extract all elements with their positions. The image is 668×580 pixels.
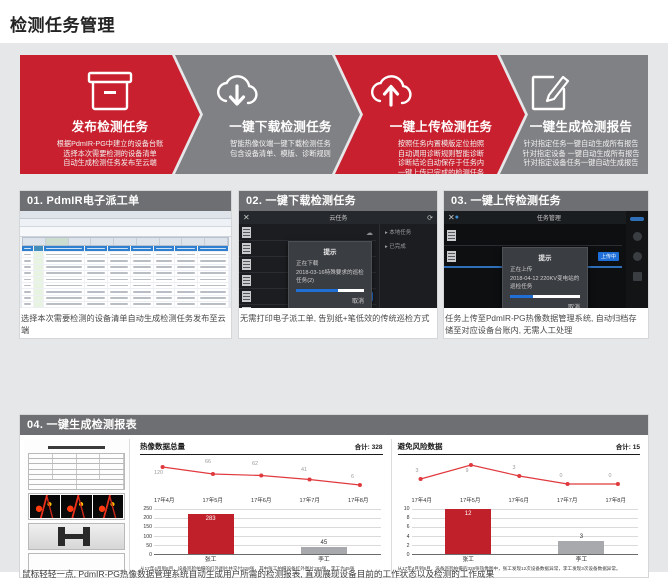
line-chart-svg-right [398,457,641,497]
card-03-screenshot: ✕ ● 任务管理 + 上传中 提示 正在上传 [444,211,648,308]
download-icon[interactable]: ☁ [366,229,373,237]
mobile-topbar-title: 任务管理 [459,213,639,222]
window-titlebar [20,211,231,219]
chevron-step-1-desc-line-2: 选择本次需要检测的设备清单 [26,149,194,159]
bar-chart-left-ylabels: 0 50 100 150 200 250 [140,509,153,555]
status-badge: 上传中 [598,252,619,261]
card-02-header: 02. 一键下载检测任务 [239,191,437,211]
info-icon[interactable] [633,232,642,241]
cloud-icon[interactable] [633,252,642,261]
bar-ligong[interactable]: 45 [301,547,347,554]
data-label-left-4: 6 [351,474,354,480]
xlabel-left-1: 17年5月 [189,496,238,504]
card-04-caption-wrap: 鼠标轻轻一点, PdmIR-PG热像数据管理系统自动生成用户所需的检测报表, 直… [20,562,660,580]
dialog-status-line: 正在下载 [289,259,371,267]
line-chart-left-xlabels: 17年4月 17年5月 17年6月 17年7月 17年8月 [140,496,383,504]
bar-chart-left-plot: 283 45 [154,509,381,555]
bar-chart-right-ylabels: 0 2 4 6 8 10 [398,509,411,555]
page-title: 检测任务管理 [0,0,668,36]
chevron-step-2[interactable]: 一键下载检测任务 智能热像仪端一键下载检测任务 包含设备清单、模版、诊断规则 [175,55,360,174]
card-01-header: 01. PdmIR电子派工单 [20,191,231,211]
chevron-step-1-desc-line-3: 自动生成检测任务发布至云端 [26,158,194,168]
ytick-left-0: 0 [149,552,152,558]
chevron-step-3-title: 一键上传检测任务 [357,116,525,135]
report-thermal-images [28,493,125,520]
card-03-caption: 任务上传至PdmIR-PG热像数据管理系统, 自动归档存储至对应设备台账内, 无… [444,308,648,336]
card-04-body: 热像数据总量 合计: 328 120 66 62 41 [20,435,648,577]
chevron-step-3-desc-line-2: 自动调用诊断规则智能诊断 [363,149,519,159]
chart-pane-thermal-total: 热像数据总量 合计: 328 120 66 62 41 [134,439,387,573]
chart-pane-risk-avoided: 避免风险数据 合计: 15 3 9 3 0 [391,439,645,573]
data-label-right-3: 0 [560,473,563,479]
report-info-table [28,453,125,490]
close-icon[interactable]: ✕ [448,213,455,222]
xlabel-right-3: 17年7月 [543,496,592,504]
bar-value-right-0: 12 [445,511,491,517]
chevron-step-4-title: 一键生成检测报告 [514,116,648,135]
chevron-step-3-desc-line-3: 诊断结论自动保存于任务内 [363,158,519,168]
chevron-step-3-desc: 按照任务内置模版定位拍照 自动调用诊断规则智能诊断 诊断结论自动保存于任务内 一… [357,139,525,177]
ytick-right-2: 4 [407,534,410,540]
process-chevron-band: 发布检测任务 根据PdmIR-PG中建立的设备台账 选择本次需要检测的设备清单 … [20,55,648,174]
dialog-status-line: 正在上传 [503,265,587,273]
data-label-right-2: 3 [513,465,516,471]
document-icon [242,275,251,286]
bar-zhanggong[interactable]: 283 [188,514,234,554]
side-panel-row-2: ▸ 已完成 [380,236,437,250]
cloud-upload-icon [365,69,417,113]
mobile-cloud-task-download-app: ✕ 云任务 ⟳ ☁ 下载中 ☁ ▸ 本地任务 ▸ 已完成 提示 [239,211,437,308]
ytick-left-2: 100 [143,534,152,540]
document-icon [242,259,251,270]
refresh-icon[interactable]: ⟳ [427,214,433,222]
list-item[interactable] [444,225,622,246]
card-01[interactable]: 01. PdmIR电子派工单 [20,191,231,338]
mobile-right-toolbar [626,211,648,308]
bar-zhanggong[interactable]: 12 [445,509,491,554]
chevron-step-2-title: 一键下载检测任务 [201,116,360,135]
data-label-right-0: 3 [416,468,419,474]
dialog-task-name: 2018-03-16特殊要求的巡检任务(2) [289,267,371,284]
xlabel-right-4: 17年8月 [592,496,641,504]
chart-header-left: 热像数据总量 合计: 328 [140,441,383,455]
chart-header-right: 避免风险数据 合计: 15 [398,441,641,455]
cancel-button[interactable]: 取消 [503,298,587,308]
ytick-left-4: 200 [143,515,152,521]
dialog-title: 提示 [289,242,371,259]
mobile-task-upload-app: ✕ ● 任务管理 + 上传中 提示 正在上传 [444,211,648,308]
mobile-topbar-title: 云任务 [329,213,347,222]
report-preview-thumbnail[interactable] [24,439,130,573]
line-chart-risk-avoided: 3 9 3 0 0 [398,457,641,497]
ytick-right-4: 8 [407,515,410,521]
task-grid [20,237,231,308]
chevron-step-1-desc: 根据PdmIR-PG中建立的设备台账 选择本次需要检测的设备清单 自动生成检测任… [20,139,200,168]
xlabel-right-0: 17年4月 [398,496,447,504]
xlabel-left-4: 17年8月 [334,496,383,504]
list-item[interactable]: ☁ [239,225,376,241]
bar-chart-thermal-by-person: 0 50 100 150 200 250 [140,509,383,565]
card-03-header: 03. 一键上传检测任务 [444,191,648,211]
task-grid-header [22,237,229,246]
report-title-bar [48,446,104,449]
document-icon [242,243,251,254]
xlabel-left-3: 17年7月 [286,496,335,504]
bar-chart-risk-by-person: 0 2 4 6 8 10 [398,509,641,565]
line-chart-right-xlabels: 17年4月 17年5月 17年6月 17年7月 17年8月 [398,496,641,504]
document-icon [242,307,251,308]
chart-total-left: 合计: 328 [355,441,383,451]
card-04[interactable]: 04. 一键生成检测报表 [20,415,648,577]
document-icon [447,251,456,262]
card-02[interactable]: 02. 一键下载检测任务 ✕ 云任务 ⟳ ☁ 下载中 ☁ ▸ 本地任务 [239,191,437,338]
chevron-step-3[interactable]: 一键上传检测任务 按照任务内置模版定位拍照 自动调用诊断规则智能诊断 诊断结论自… [335,55,525,174]
ytick-left-5: 250 [143,506,152,512]
ytick-left-1: 50 [146,543,152,549]
bar-value-left-0: 283 [188,516,234,522]
xlabel-right-1: 17年5月 [446,496,495,504]
desktop-task-grid-app [20,211,231,308]
content-stage: 发布检测任务 根据PdmIR-PG中建立的设备台账 选择本次需要检测的设备清单 … [0,43,668,572]
card-01-screenshot [20,211,231,308]
card-04-header: 04. 一键生成检测报表 [20,415,648,435]
ytick-right-0: 0 [407,552,410,558]
ytick-right-1: 2 [407,543,410,549]
card-04-caption: 鼠标轻轻一点, PdmIR-PG热像数据管理系统自动生成用户所需的检测报表, 直… [20,562,660,580]
chevron-step-1-title: 发布检测任务 [20,116,200,135]
chevron-step-2-desc-line-1: 智能热像仪端一键下载检测任务 [207,139,354,149]
data-label-left-3: 41 [301,467,307,473]
chart-title-right: 避免风险数据 [398,441,443,452]
chevron-step-3-desc-line-4: 一键上传已完成的检测任务 [363,168,519,178]
xlabel-left-2: 17年6月 [237,496,286,504]
line-chart-thermal-total: 120 66 62 41 6 [140,457,383,497]
card-01-caption: 选择本次需要检测的设备清单自动生成检测任务发布至云端 [20,308,231,336]
chevron-step-3-desc-line-1: 按照任务内置模版定位拍照 [363,139,519,149]
mobile-topbar: ✕ 云任务 ⟳ [239,211,437,224]
chevron-step-4-desc: 针对指定任务一键自动生成所有报告 针对指定设备 一键自动生成所有报告 针对指定设… [514,139,648,168]
progress-bar [296,289,364,292]
thermal-image-2 [61,495,91,518]
close-icon[interactable]: ✕ [243,213,250,222]
line-chart-svg-left [140,457,383,497]
chevron-step-4-desc-line-1: 针对指定任务一键自动生成所有报告 [520,139,642,149]
note-edit-icon [522,69,574,113]
data-label-right-1: 9 [466,468,469,474]
mobile-side-panel: ▸ 本地任务 ▸ 已完成 [379,224,437,308]
progress-bar [510,295,580,298]
dialog-title: 提示 [503,248,587,265]
document-icon [242,291,251,302]
data-label-left-1: 66 [205,459,211,465]
chart-total-right: 合计: 15 [616,441,640,451]
card-02-caption: 无需打印电子派工单, 告别纸+笔低效的传统巡检方式 [239,308,437,325]
xlabel-left-0: 17年4月 [140,496,189,504]
chevron-step-1[interactable]: 发布检测任务 根据PdmIR-PG中建立的设备台账 选择本次需要检测的设备清单 … [20,55,200,174]
archive-box-icon [84,69,136,113]
mobile-topbar: ✕ ● 任务管理 + [444,211,648,224]
dialog-task-name: 2018-04-12 220KV变电站的巡检任务 [503,273,587,290]
thermal-image-1 [30,495,60,518]
side-panel-row-1: ▸ 本地任务 [380,224,437,236]
bar-value-right-1: 3 [558,534,604,540]
ytick-right-3: 6 [407,524,410,530]
bar-chart-left-bars: 283 45 [154,509,381,554]
chevron-step-2-desc: 智能热像仪端一键下载检测任务 包含设备清单、模版、诊断规则 [201,139,360,158]
data-label-right-4: 0 [609,473,612,479]
download-progress-dialog: 提示 正在下载 2018-03-16特殊要求的巡检任务(2) 取消 [288,241,372,308]
document-icon [447,230,456,241]
card-03[interactable]: 03. 一键上传检测任务 ✕ ● 任务管理 + 上传中 [444,191,648,338]
thermal-image-3 [93,495,123,518]
bar-ligong[interactable]: 3 [558,541,604,554]
trash-icon[interactable] [633,272,642,281]
ytick-right-5: 10 [404,506,410,512]
chevron-step-4-desc-line-3: 针对指定设备任务一键自动生成报告 [520,158,642,168]
bar-chart-right-bars: 12 3 [412,509,639,554]
chart-title-left: 热像数据总量 [140,441,185,452]
chevron-step-2-desc-line-2: 包含设备清单、模版、诊断规则 [207,149,354,159]
document-icon [242,227,251,238]
bar-chart-right-plot: 12 3 [412,509,639,555]
bar-value-left-1: 45 [301,540,347,546]
data-label-left-0: 120 [154,470,163,476]
card-02-screenshot: ✕ 云任务 ⟳ ☁ 下载中 ☁ ▸ 本地任务 ▸ 已完成 提示 [239,211,437,308]
window-toolbar [20,227,231,237]
cancel-button[interactable]: 取消 [289,292,371,308]
report-visible-image [28,523,125,550]
upload-progress-dialog: 提示 正在上传 2018-04-12 220KV变电站的巡检任务 取消 [502,247,588,308]
chevron-step-4-desc-line-2: 针对指定设备 一键自动生成所有报告 [520,149,642,159]
cloud-download-icon [211,69,263,113]
xlabel-right-2: 17年6月 [495,496,544,504]
window-menubar [20,219,231,227]
ytick-left-3: 150 [143,524,152,530]
chevron-step-1-desc-line-1: 根据PdmIR-PG中建立的设备台账 [26,139,194,149]
table-row [29,485,124,490]
data-label-left-2: 62 [252,461,258,467]
slider-icon[interactable] [630,217,644,221]
